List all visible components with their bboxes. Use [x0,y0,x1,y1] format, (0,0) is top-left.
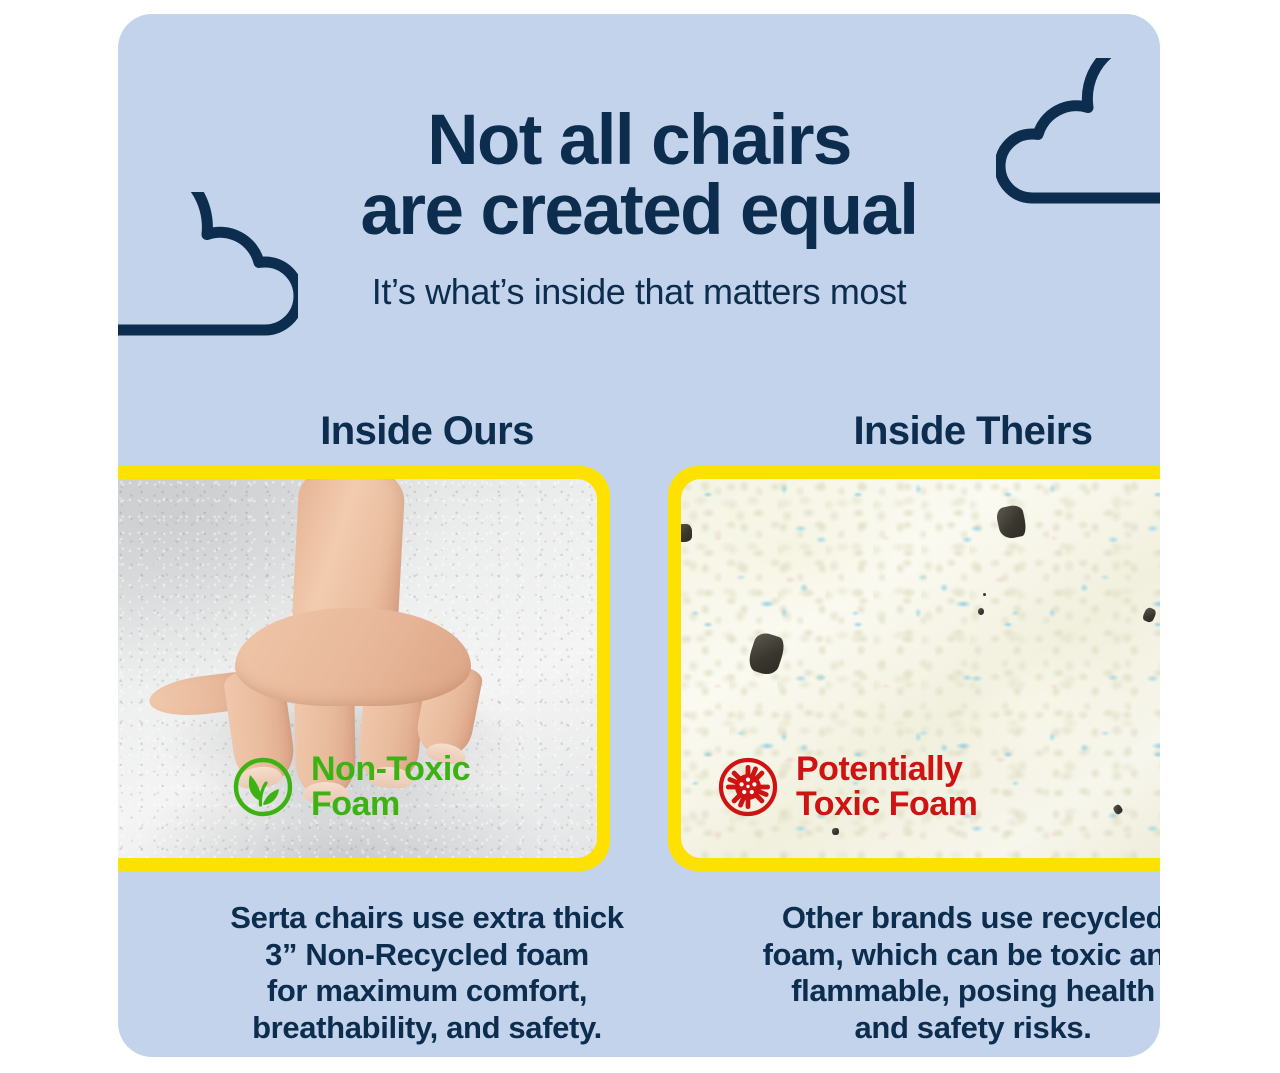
column-title-theirs: Inside Theirs [668,409,1160,454]
germ-icon [717,756,779,818]
panel-ours: Non-Toxic Foam [118,466,610,871]
foam-speck [832,828,839,836]
subheadline: It’s what’s inside that matters most [118,272,1160,312]
headline-line-2: are created equal [118,176,1160,246]
photo-recycled-foam: Potentially Toxic Foam [681,479,1160,858]
caption-ours: Serta chairs use extra thick 3” Non-Recy… [130,900,724,1046]
column-title-ours: Inside Ours [122,409,732,454]
headline: Not all chairs are created equal [118,106,1160,247]
leaf-icon [232,756,294,818]
badge-non-toxic: Non-Toxic Foam [232,752,470,822]
badge-non-toxic-label: Non-Toxic Foam [311,752,470,822]
headline-line-1: Not all chairs [118,106,1160,176]
badge-potentially-toxic: Potentially Toxic Foam [717,752,977,822]
panel-theirs: Potentially Toxic Foam [668,466,1160,871]
foam-speck [681,524,692,541]
caption-theirs: Other brands use recycled foam, which ca… [676,900,1160,1046]
badge-potentially-toxic-label: Potentially Toxic Foam [796,752,977,822]
infographic-card: Not all chairs are created equal It’s wh… [118,14,1160,1057]
photo-non-recycled-foam: Non-Toxic Foam [118,479,597,858]
hand-knuckles [235,608,471,707]
infographic-stage: Not all chairs are created equal It’s wh… [0,0,1280,1073]
